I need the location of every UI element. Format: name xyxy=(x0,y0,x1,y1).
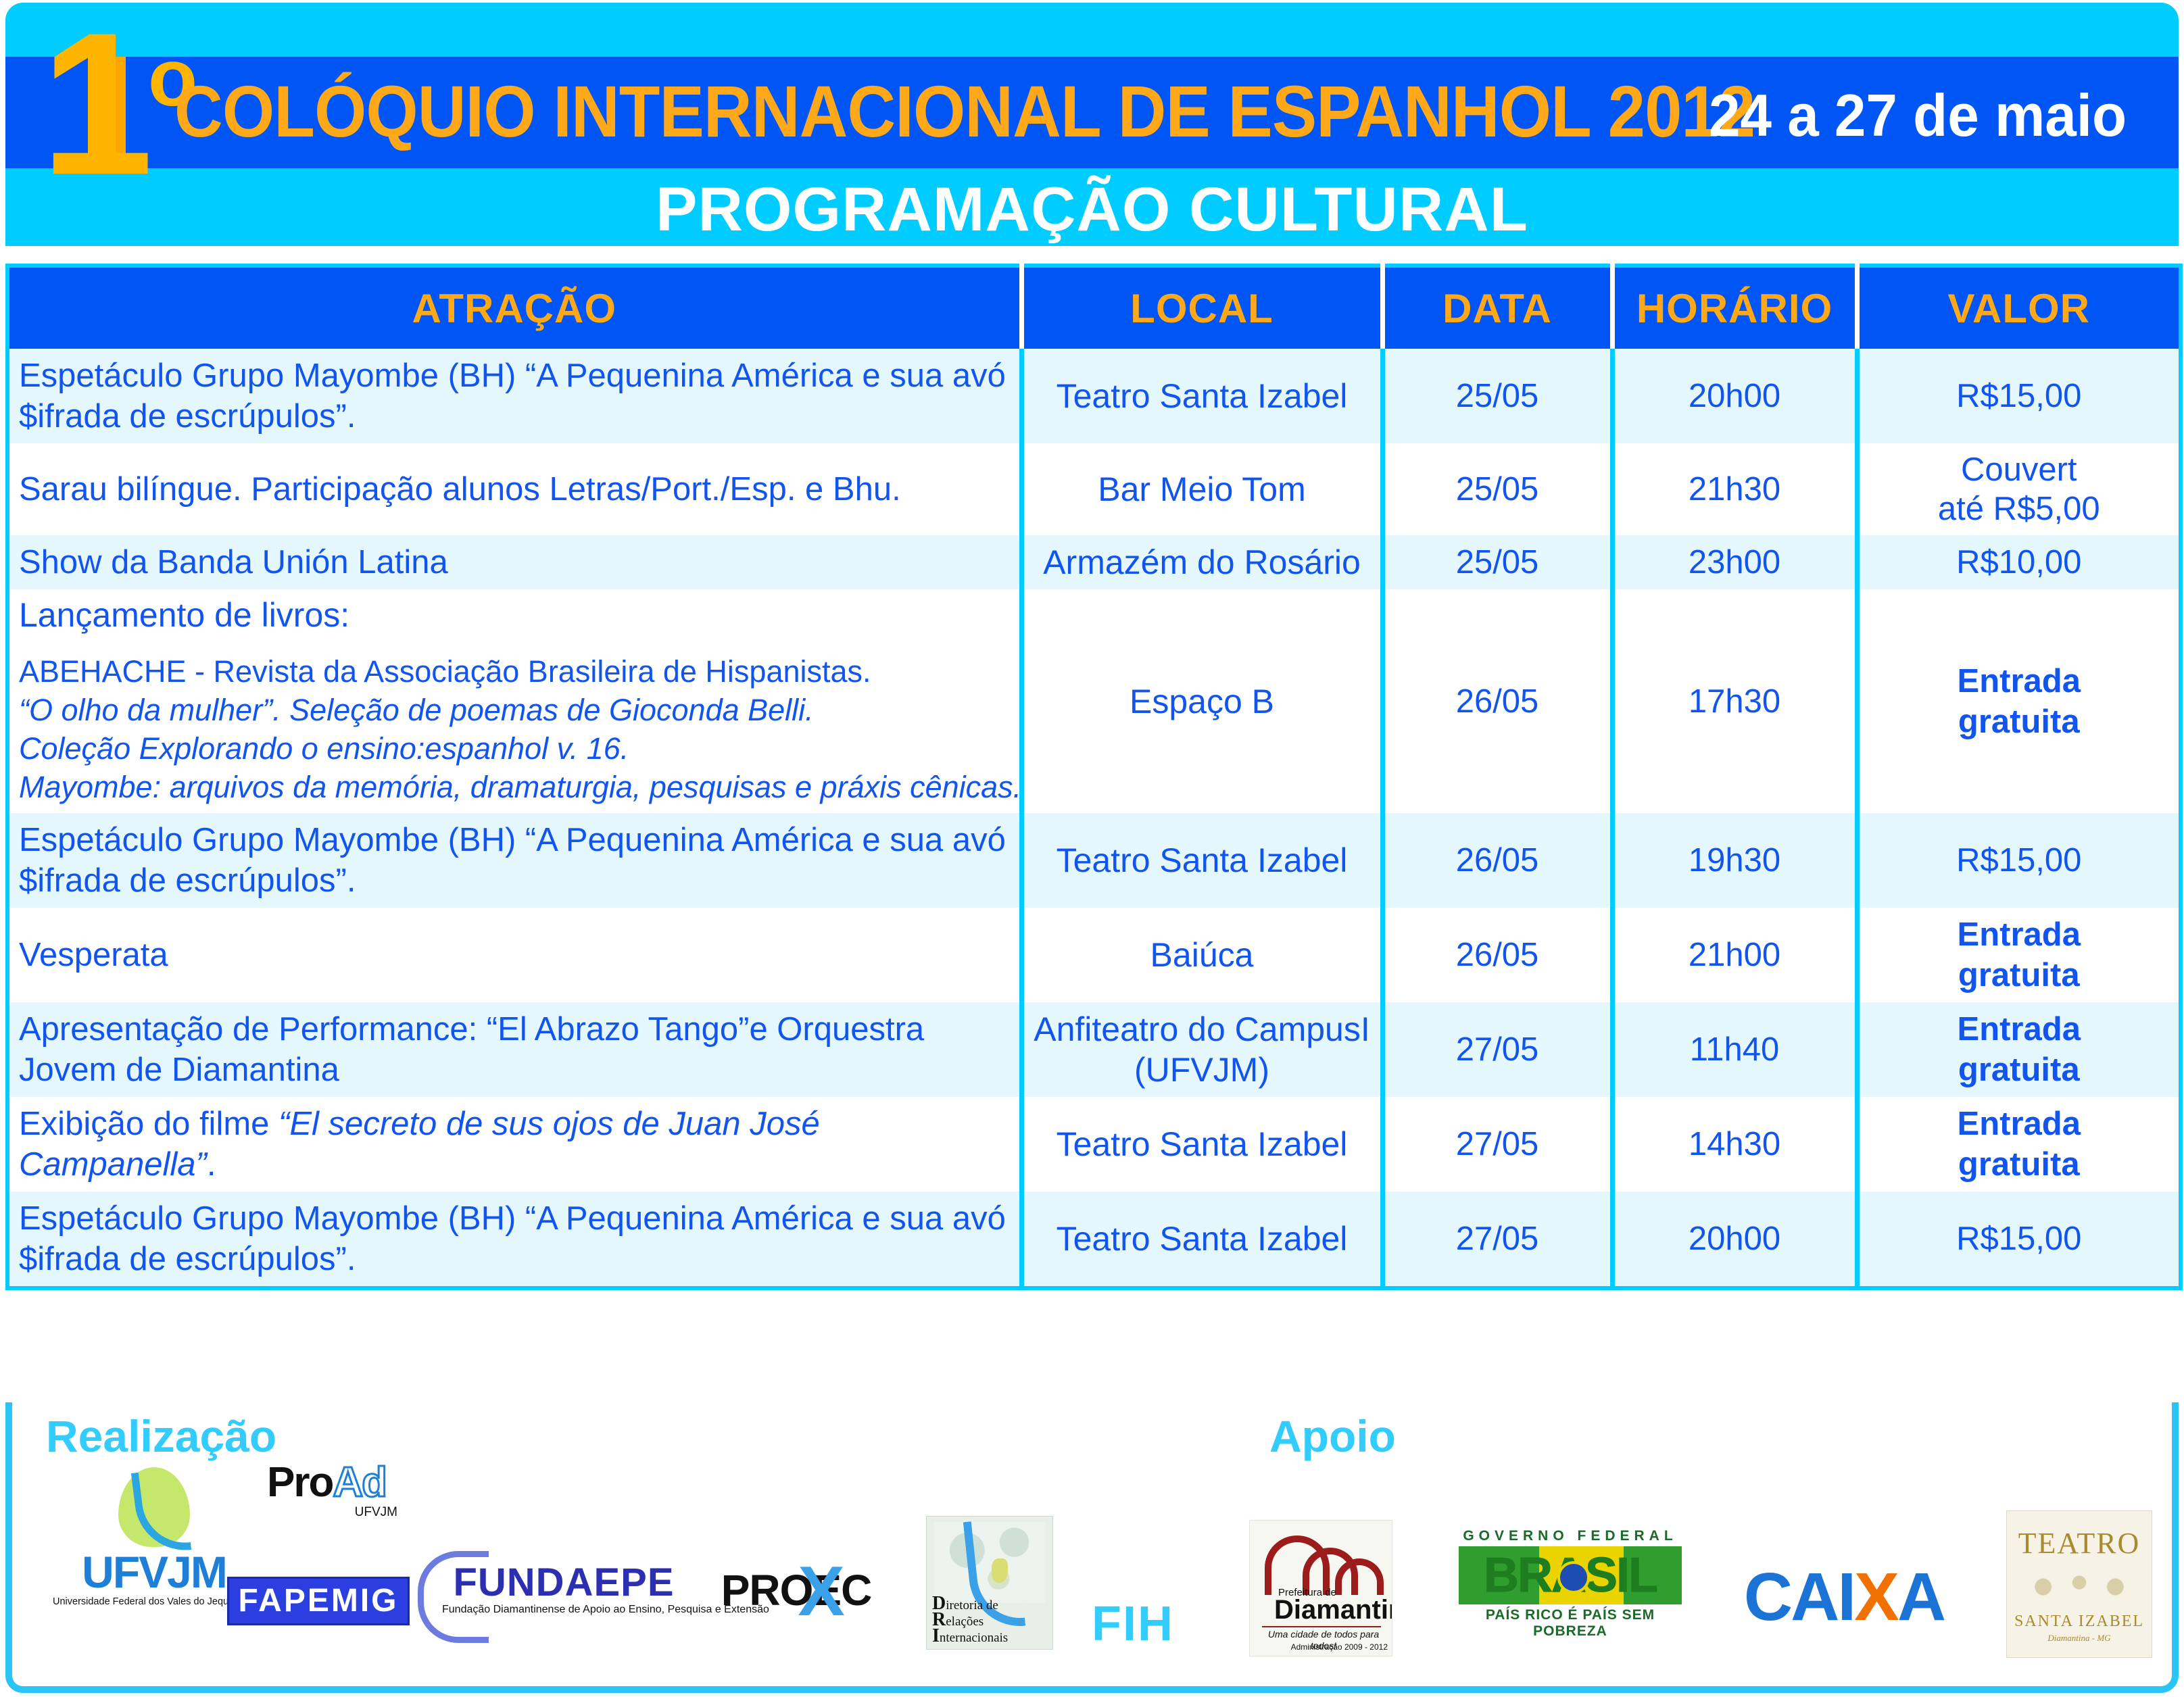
cell-local: Baiúca xyxy=(1021,908,1382,1002)
teatro-city: Diamantina - MG xyxy=(2007,1633,2152,1644)
proad-wordmark: ProAd xyxy=(249,1462,404,1504)
poster-footer: Realização Apoio UFVJM Universidade Fede… xyxy=(5,1402,2179,1693)
cell-horario: 14h30 xyxy=(1612,1097,1857,1191)
proad-ro: ro xyxy=(293,1459,333,1506)
table-row: Sarau bilíngue. Participação alunos Letr… xyxy=(7,443,2181,535)
brasil-slogan: PAÍS RICO É PAÍS SEM POBREZA xyxy=(1459,1607,1682,1640)
dri-text: Diretoria de Relações Internacionais xyxy=(932,1596,1008,1645)
cell-data: 27/05 xyxy=(1382,1002,1612,1097)
cell-local: Teatro Santa Izabel xyxy=(1021,813,1382,908)
table-row: Show da Banda Unión Latina Armazém do Ro… xyxy=(7,535,2181,589)
brasil-logo: GOVERNO FEDERAL BRASIL PAÍS RICO É PAÍS … xyxy=(1459,1528,1682,1640)
caixa-post: A xyxy=(1897,1559,1944,1635)
book-item: “O olho da mulher”. Seleção de poemas de… xyxy=(19,691,1010,729)
cell-valor: Couvert até R$5,00 xyxy=(1857,443,2181,535)
valor-line-2: gratuita xyxy=(1869,955,2170,995)
cell-data: 27/05 xyxy=(1382,1097,1612,1191)
cell-horario: 11h40 xyxy=(1612,1002,1857,1097)
cell-horario: 21h30 xyxy=(1612,443,1857,535)
divider xyxy=(1262,1626,1381,1627)
dri-initial-i: I xyxy=(932,1625,940,1646)
fapemig-logo: FAPEMIG xyxy=(227,1577,410,1625)
cell-valor: Entrada gratuita xyxy=(1857,589,2181,813)
book-item-text: Coleção Explorando o ensino:espanhol v. … xyxy=(19,731,629,766)
cell-atracao: Lançamento de livros: ABEHACHE - Revista… xyxy=(7,589,1021,813)
ufvjm-wordmark: UFVJM xyxy=(53,1550,256,1594)
cell-valor: Entrada gratuita xyxy=(1857,1002,2181,1097)
local-line-1: Anfiteatro do CampusI xyxy=(1034,1009,1371,1050)
cell-valor: R$15,00 xyxy=(1857,1191,2181,1288)
cell-data: 26/05 xyxy=(1382,813,1612,908)
valor-line-1: Entrada xyxy=(1869,1009,2170,1050)
valor-line-1: Couvert xyxy=(1869,450,2170,489)
book-item-text: “O olho da mulher”. Seleção de poemas de… xyxy=(19,693,814,727)
proexc-logo: PROEC X xyxy=(708,1569,884,1612)
cell-data: 26/05 xyxy=(1382,589,1612,813)
cell-valor: R$10,00 xyxy=(1857,535,2181,589)
cell-valor: Entrada gratuita xyxy=(1857,1097,2181,1191)
caixa-pre: CAI xyxy=(1744,1559,1854,1635)
teatro-santa-izabel-logo: TEATRO SANTA IZABEL Diamantina - MG xyxy=(2006,1510,2155,1658)
cell-atracao: Vesperata xyxy=(7,908,1021,1002)
dri-line-2: Relações xyxy=(932,1613,1008,1629)
table-head: ATRAÇÃO LOCAL DATA HORÁRIO VALOR xyxy=(7,266,2181,349)
cell-data: 26/05 xyxy=(1382,908,1612,1002)
fundaepe-logo: FUNDAEPE Fundação Diamantinense de Apoio… xyxy=(442,1563,685,1616)
valor-line-2: gratuita xyxy=(1869,1144,2170,1185)
fapemig-wordmark: FAPEMIG xyxy=(236,1584,401,1618)
cell-valor: R$15,00 xyxy=(1857,349,2181,443)
dri-word-3: nternacionais xyxy=(940,1631,1008,1645)
flag-globe-icon xyxy=(1557,1561,1590,1594)
book-item: Mayombe: arquivos da memória, dramaturgi… xyxy=(19,768,1010,806)
atracao-prefix: Exibição do filme xyxy=(19,1106,278,1142)
ornament-icon xyxy=(2019,1565,2139,1608)
fundaepe-arc-icon xyxy=(418,1551,489,1643)
governo-federal-label: GOVERNO FEDERAL xyxy=(1459,1528,1682,1544)
proad-ad: Ad xyxy=(333,1459,386,1506)
diamantina-administration: Administração 2009 - 2012 xyxy=(1259,1642,1388,1652)
poster-header: 1o COLÓQUIO INTERNACIONAL DE ESPANHOL 20… xyxy=(5,3,2179,246)
cell-local: Teatro Santa Izabel xyxy=(1021,1097,1382,1191)
cell-horario: 17h30 xyxy=(1612,589,1857,813)
proexc-x-icon: X xyxy=(796,1559,846,1624)
valor-line-2: gratuita xyxy=(1869,1050,2170,1090)
cell-local: Espaço B xyxy=(1021,589,1382,813)
cell-horario: 20h00 xyxy=(1612,1191,1857,1288)
teatro-card: TEATRO SANTA IZABEL Diamantina - MG xyxy=(2006,1510,2152,1658)
column-header-local: LOCAL xyxy=(1021,266,1382,349)
cell-data: 25/05 xyxy=(1382,349,1612,443)
schedule-table: ATRAÇÃO LOCAL DATA HORÁRIO VALOR Espetác… xyxy=(5,264,2183,1290)
table-row: Espetáculo Grupo Mayombe (BH) “A Pequeni… xyxy=(7,1191,2181,1288)
cell-horario: 21h00 xyxy=(1612,908,1857,1002)
cell-atracao: Exibição do filme “El secreto de sus ojo… xyxy=(7,1097,1021,1191)
caixa-x-icon: X xyxy=(1854,1559,1897,1635)
table-row: Espetáculo Grupo Mayombe (BH) “A Pequeni… xyxy=(7,813,2181,908)
cell-local: Teatro Santa Izabel xyxy=(1021,349,1382,443)
cell-atracao: Espetáculo Grupo Mayombe (BH) “A Pequeni… xyxy=(7,813,1021,908)
page-title: PROGRAMAÇÃO CULTURAL xyxy=(5,176,2179,243)
cell-horario: 23h00 xyxy=(1612,535,1857,589)
proad-sub: UFVJM xyxy=(249,1505,404,1520)
cell-data: 25/05 xyxy=(1382,443,1612,535)
diamantina-logo: Prefeitura de Diamantina Uma cidade de t… xyxy=(1249,1520,1398,1656)
cell-atracao: Espetáculo Grupo Mayombe (BH) “A Pequeni… xyxy=(7,1191,1021,1288)
table-row: Lançamento de livros: ABEHACHE - Revista… xyxy=(7,589,2181,813)
cell-valor: R$15,00 xyxy=(1857,813,2181,908)
table-row: Exibição do filme “El secreto de sus ojo… xyxy=(7,1097,2181,1191)
ufvjm-leaf-icon xyxy=(103,1467,205,1548)
fih-wordmark: FIH xyxy=(1079,1600,1187,1648)
column-header-horario: HORÁRIO xyxy=(1612,266,1857,349)
event-dates: 24 a 27 de maio xyxy=(1709,78,2127,153)
cell-local: Bar Meio Tom xyxy=(1021,443,1382,535)
realizacao-label: Realização xyxy=(46,1410,276,1462)
caixa-logo: CAIXA xyxy=(1722,1562,1966,1632)
cell-local: Teatro Santa Izabel xyxy=(1021,1191,1382,1288)
book-item-text: Mayombe: arquivos da memória, dramaturgi… xyxy=(19,770,1021,804)
cell-horario: 20h00 xyxy=(1612,349,1857,443)
diamantina-wordmark: Diamantina xyxy=(1274,1596,1392,1623)
event-title: COLÓQUIO INTERNACIONAL DE ESPANHOL 2012 xyxy=(174,68,1755,155)
proad-logo: ProAd UFVJM xyxy=(249,1462,404,1520)
books-lead: Lançamento de livros: xyxy=(19,596,1010,635)
column-header-data: DATA xyxy=(1382,266,1612,349)
teatro-wordmark: TEATRO xyxy=(2007,1526,2152,1560)
table-row: Apresentação de Performance: “El Abrazo … xyxy=(7,1002,2181,1097)
local-line-2: (UFVJM) xyxy=(1034,1050,1371,1090)
cell-atracao: Apresentação de Performance: “El Abrazo … xyxy=(7,1002,1021,1097)
diamantina-card: Prefeitura de Diamantina Uma cidade de t… xyxy=(1249,1520,1392,1656)
table-row: Vesperata Baiúca 26/05 21h00 Entrada gra… xyxy=(7,908,2181,1002)
cell-atracao: Sarau bilíngue. Participação alunos Letr… xyxy=(7,443,1021,535)
teatro-subname: SANTA IZABEL xyxy=(2007,1613,2152,1631)
ufvjm-logo: UFVJM Universidade Federal dos Vales do … xyxy=(53,1467,256,1608)
book-item: ABEHACHE - Revista da Associação Brasile… xyxy=(19,652,1010,691)
cell-data: 27/05 xyxy=(1382,1191,1612,1288)
cell-horario: 19h30 xyxy=(1612,813,1857,908)
poster: 1o COLÓQUIO INTERNACIONAL DE ESPANHOL 20… xyxy=(0,0,2184,1697)
fih-logo: FIH xyxy=(1079,1600,1187,1648)
caixa-wordmark: CAIXA xyxy=(1722,1562,1966,1632)
apoio-label: Apoio xyxy=(1269,1410,1396,1462)
cell-data: 25/05 xyxy=(1382,535,1612,589)
dri-card: Diretoria de Relações Internacionais xyxy=(926,1516,1053,1650)
valor-line-1: Entrada xyxy=(1869,1104,2170,1144)
fapemig-box: FAPEMIG xyxy=(227,1577,410,1625)
table-row: Espetáculo Grupo Mayombe (BH) “A Pequeni… xyxy=(7,349,2181,443)
dri-logo: Diretoria de Relações Internacionais xyxy=(926,1516,1054,1651)
valor-line-2: gratuita xyxy=(1869,702,2170,742)
ufvjm-tagline: Universidade Federal dos Vales do Jequit… xyxy=(53,1596,256,1608)
dri-line-3: Internacionais xyxy=(932,1629,1008,1645)
table-header-row: ATRAÇÃO LOCAL DATA HORÁRIO VALOR xyxy=(7,266,2181,349)
column-header-valor: VALOR xyxy=(1857,266,2181,349)
cell-valor: Entrada gratuita xyxy=(1857,908,2181,1002)
cell-atracao: Show da Banda Unión Latina xyxy=(7,535,1021,589)
brasil-flag-box: BRASIL xyxy=(1459,1546,1682,1604)
valor-line-1: Entrada xyxy=(1869,661,2170,702)
column-header-atracao: ATRAÇÃO xyxy=(7,266,1021,349)
proad-p: P xyxy=(267,1459,293,1506)
valor-line-1: Entrada xyxy=(1869,914,2170,955)
schedule-table-wrapper: ATRAÇÃO LOCAL DATA HORÁRIO VALOR Espetác… xyxy=(5,264,2179,1290)
valor-line-2: até R$5,00 xyxy=(1869,489,2170,528)
atracao-suffix: . xyxy=(207,1146,216,1183)
book-item: Coleção Explorando o ensino:espanhol v. … xyxy=(19,729,1010,768)
cell-local: Anfiteatro do CampusI (UFVJM) xyxy=(1021,1002,1382,1097)
dri-word-2: elações xyxy=(946,1615,984,1629)
dri-word-1: iretoria de xyxy=(946,1598,998,1613)
table-body: Espetáculo Grupo Mayombe (BH) “A Pequeni… xyxy=(7,349,2181,1288)
cell-local: Armazém do Rosário xyxy=(1021,535,1382,589)
cell-atracao: Espetáculo Grupo Mayombe (BH) “A Pequeni… xyxy=(7,349,1021,443)
